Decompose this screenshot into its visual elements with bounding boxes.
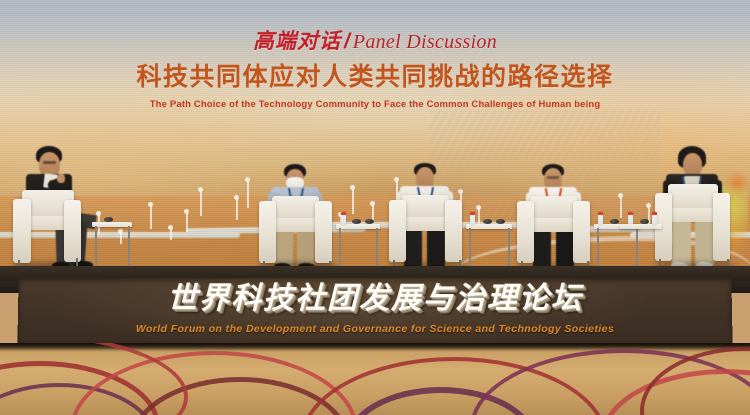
- panelist-5-left-leg: [672, 218, 691, 266]
- forum-title-chinese: 世界科技社团发展与治理论坛: [18, 280, 732, 318]
- microphone-2b: [365, 219, 374, 224]
- armchair-2-backrest: [272, 196, 319, 220]
- stage-front-banner: 世界科技社团发展与治理论坛 World Forum on the Develop…: [17, 278, 732, 345]
- panelist-5-right-leg: [695, 218, 714, 266]
- panel-title-separator: /: [344, 30, 350, 53]
- screen-title-block: 高端对话/Panel Discussion 科技共同体应对人类共同挑战的路径选择…: [0, 28, 750, 111]
- side-table-2-leg: [339, 228, 341, 268]
- side-table-3-leg: [469, 228, 471, 268]
- armchair-1-left-arm: [13, 199, 31, 263]
- armchair-5-backrest: [668, 184, 718, 210]
- microphone-2: [352, 219, 361, 224]
- panel-discussion-title: 高端对话/Panel Discussion: [0, 28, 750, 55]
- armchair-3-backrest: [402, 195, 449, 218]
- panelist-1-glasses-icon: [43, 161, 56, 164]
- water-bottle: [341, 212, 346, 225]
- microphone-3: [483, 219, 492, 224]
- panel-subtitle-english: The Path Choice of the Technology Commun…: [0, 99, 750, 111]
- side-table-1-leg: [95, 226, 97, 266]
- panel-title-english: Panel Discussion: [353, 31, 497, 53]
- armchair-2-left-arm: [259, 201, 276, 263]
- microphone-4: [610, 219, 619, 224]
- microphone-1: [104, 217, 113, 222]
- water-bottle: [652, 212, 657, 225]
- armchair-4-left-arm: [517, 201, 534, 263]
- stage-photograph: 高端对话/Panel Discussion 科技共同体应对人类共同挑战的路径选择…: [0, 0, 750, 415]
- armchair-1-right-arm: [64, 200, 81, 262]
- microphone-3b: [496, 219, 505, 224]
- water-bottle: [470, 212, 475, 225]
- forum-title-english: World Forum on the Development and Gover…: [18, 322, 733, 336]
- venue-carpet: [0, 343, 750, 415]
- side-table-1-top: [92, 222, 132, 227]
- panel-title-chinese: 高端对话: [253, 29, 341, 53]
- armchair-4-right-arm: [573, 201, 590, 263]
- side-table-2-leg: [376, 228, 378, 268]
- carpet-swirl: [0, 343, 188, 415]
- side-table-1-leg: [128, 226, 130, 266]
- armchair-3-left-arm: [389, 200, 406, 262]
- armchair-3-right-arm: [445, 200, 462, 262]
- side-table-4-leg: [636, 228, 638, 268]
- side-table-3-leg: [508, 228, 510, 268]
- panel-subtitle-chinese: 科技共同体应对人类共同挑战的路径选择: [0, 62, 750, 92]
- armchair-5-right-arm: [713, 193, 730, 261]
- side-table-4-leg: [597, 228, 599, 268]
- armchair-2-right-arm: [315, 201, 332, 263]
- panelist-4-glasses-icon: [547, 176, 559, 179]
- microphone-5: [640, 219, 649, 224]
- water-bottle: [598, 212, 603, 225]
- armchair-4-backrest: [530, 196, 577, 219]
- panelist-1-hand: [57, 174, 65, 183]
